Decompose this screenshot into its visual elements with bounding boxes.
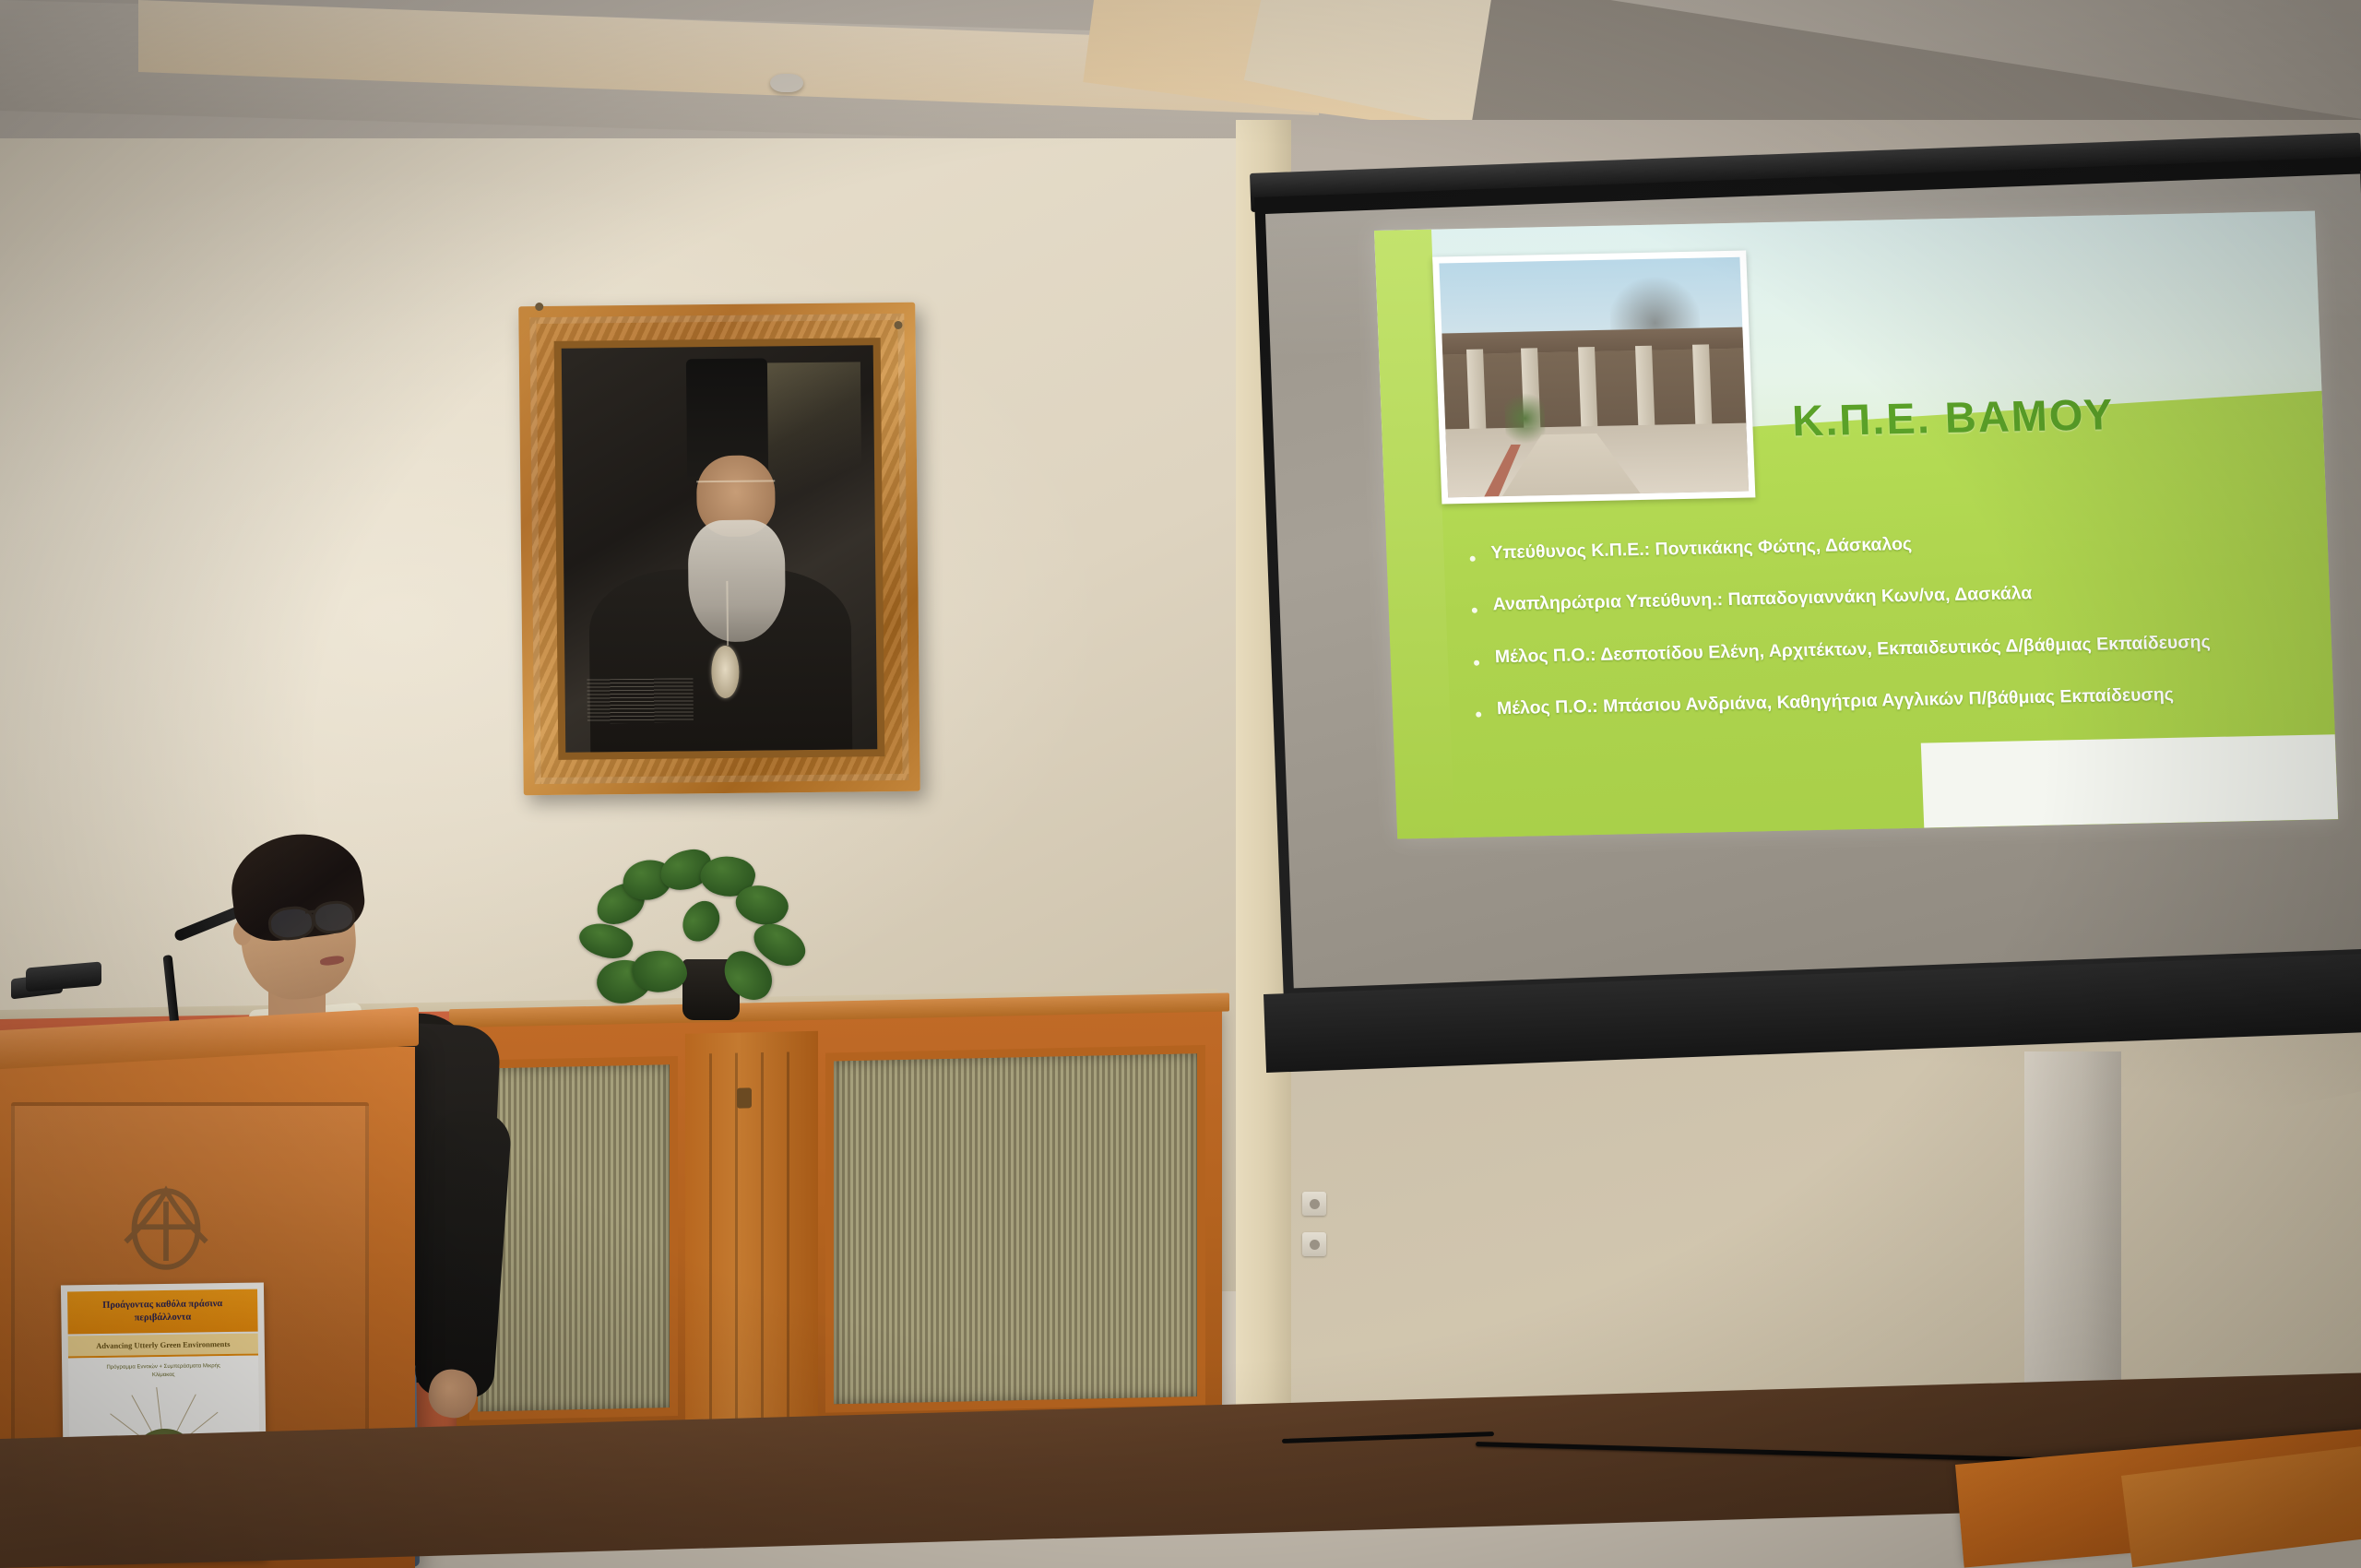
slide-bullet-item: Μέλος Π.Ο.: Δεσποτίδου Ελένη, Αρχιτέκτων… (1462, 628, 2320, 670)
slide-white-footer-box (1921, 734, 2338, 828)
bullet-dot-icon (1470, 556, 1476, 562)
potted-plant (572, 849, 830, 1033)
lectern-emblem-icon (111, 1176, 221, 1282)
slide-bullet-text: Μέλος Π.Ο.: Μπάσιου Ανδριάνα, Καθηγήτρια… (1497, 683, 2175, 721)
ceiling-light-fixture (770, 74, 803, 92)
framed-portrait (518, 303, 920, 795)
slide-bullet-item: Αναπληρώτρια Υπεύθυνη.: Παπαδογιαννάκη Κ… (1460, 576, 2319, 618)
slide-building-photo (1432, 251, 1755, 505)
portrait-caption-text (587, 678, 693, 723)
slide-bullet-list: Υπεύθυνος Κ.Π.Ε.: Ποντικάκης Φώτης, Δάσκ… (1458, 525, 2324, 751)
poster-title-greek: Προάγοντας καθόλα πράσινα περιβάλλοντα (73, 1298, 252, 1326)
cabinet-groove-1 (709, 1053, 712, 1422)
wall-outlet-upper[interactable] (1302, 1192, 1326, 1216)
wall-outlet-lower[interactable] (1302, 1232, 1326, 1256)
portrait-beard (688, 520, 786, 642)
slide-building-photo-inner (1439, 257, 1749, 498)
photo-column-1 (1466, 350, 1486, 434)
bullet-dot-icon (1472, 608, 1477, 613)
bullet-dot-icon (1474, 659, 1479, 665)
cabinet-latch-icon[interactable] (737, 1087, 752, 1108)
projected-slide: Κ.Π.Ε. ΒΑΜΟΥ Υπεύθυνος Κ.Π.Ε.: Ποντικάκη… (1374, 211, 2338, 839)
radiator-cover-cabinet (457, 1006, 1222, 1474)
photo-column-5 (1692, 344, 1712, 429)
bullet-dot-icon (1476, 712, 1481, 718)
poster-caption: Πρόγραμμα Εννοιών + Συμπεράσματα Μικρής … (95, 1362, 232, 1381)
cabinet-groove-2 (735, 1053, 738, 1422)
portrait-glasses-icon (697, 480, 776, 503)
plant-leaf (674, 896, 728, 947)
poster-title-english: Advancing Utterly Green Environments (72, 1339, 255, 1351)
portrait-hook-left (535, 303, 543, 311)
portrait-image (562, 345, 878, 753)
photo-shrub (1504, 387, 1546, 449)
photo-column-4 (1635, 346, 1655, 431)
slide-bullet-item: Μέλος Π.Ο.: Μπάσιου Ανδριάνα, Καθηγήτρια… (1465, 681, 2323, 722)
cabinet-groove-4 (787, 1051, 789, 1420)
slide-title: Κ.Π.Ε. ΒΑΜΟΥ (1791, 388, 2115, 445)
portrait-hook-right (894, 321, 902, 329)
slide-bullet-text: Αναπληρώτρια Υπεύθυνη.: Παπαδογιαννάκη Κ… (1492, 582, 2033, 617)
cabinet-groove-3 (761, 1052, 764, 1421)
cabinet-grille-panel-right (825, 1045, 1205, 1413)
slide-bullet-text: Μέλος Π.Ο.: Δεσποτίδου Ελένη, Αρχιτέκτων… (1494, 631, 2211, 670)
poster-subheader: Advancing Utterly Green Environments (68, 1334, 258, 1359)
conference-room-scene: Κ.Π.Ε. ΒΑΜΟΥ Υπεύθυνος Κ.Π.Ε.: Ποντικάκη… (0, 0, 2361, 1568)
photo-column-3 (1578, 347, 1597, 432)
cabinet-center-stile (685, 1031, 818, 1440)
poster-header: Προάγοντας καθόλα πράσινα περιβάλλοντα (67, 1289, 258, 1335)
